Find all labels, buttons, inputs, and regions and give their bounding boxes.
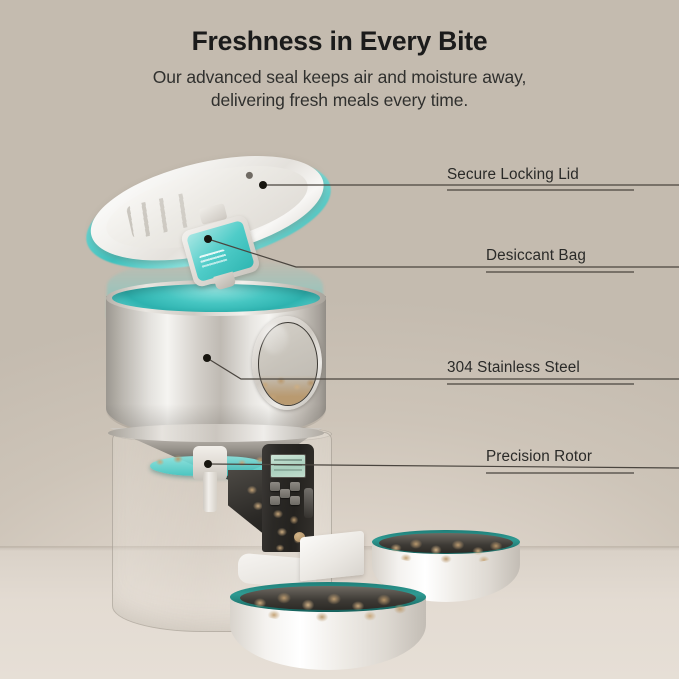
- kibble-inside-canister: [258, 375, 318, 406]
- control-button-down[interactable]: [270, 496, 280, 505]
- product-illustration: [0, 0, 679, 679]
- funnel-lip: [108, 424, 324, 442]
- lcd-display: [270, 454, 306, 478]
- control-button-feed[interactable]: [290, 496, 300, 505]
- callout-label-precision-rotor: Precision Rotor: [486, 448, 592, 466]
- food-bowl-front: [230, 582, 426, 670]
- control-button-center[interactable]: [280, 489, 290, 498]
- callout-label-stainless-steel: 304 Stainless Steel: [447, 359, 580, 377]
- kibble-pile: [246, 589, 410, 623]
- callout-label-secure-locking-lid: Secure Locking Lid: [447, 166, 579, 184]
- canister-teal-seal-ring: [112, 284, 320, 312]
- control-button-up[interactable]: [270, 482, 280, 491]
- food-deflector-plate: [300, 531, 364, 582]
- kibble-pile: [384, 536, 508, 564]
- rotor-shaft: [203, 472, 217, 512]
- infographic-canvas: Freshness in Every Bite Our advanced sea…: [0, 0, 679, 679]
- callout-label-desiccant-bag: Desiccant Bag: [486, 247, 586, 265]
- control-button-set[interactable]: [290, 482, 300, 491]
- lcd-text-lines: [274, 459, 302, 473]
- window-highlight: [262, 324, 288, 354]
